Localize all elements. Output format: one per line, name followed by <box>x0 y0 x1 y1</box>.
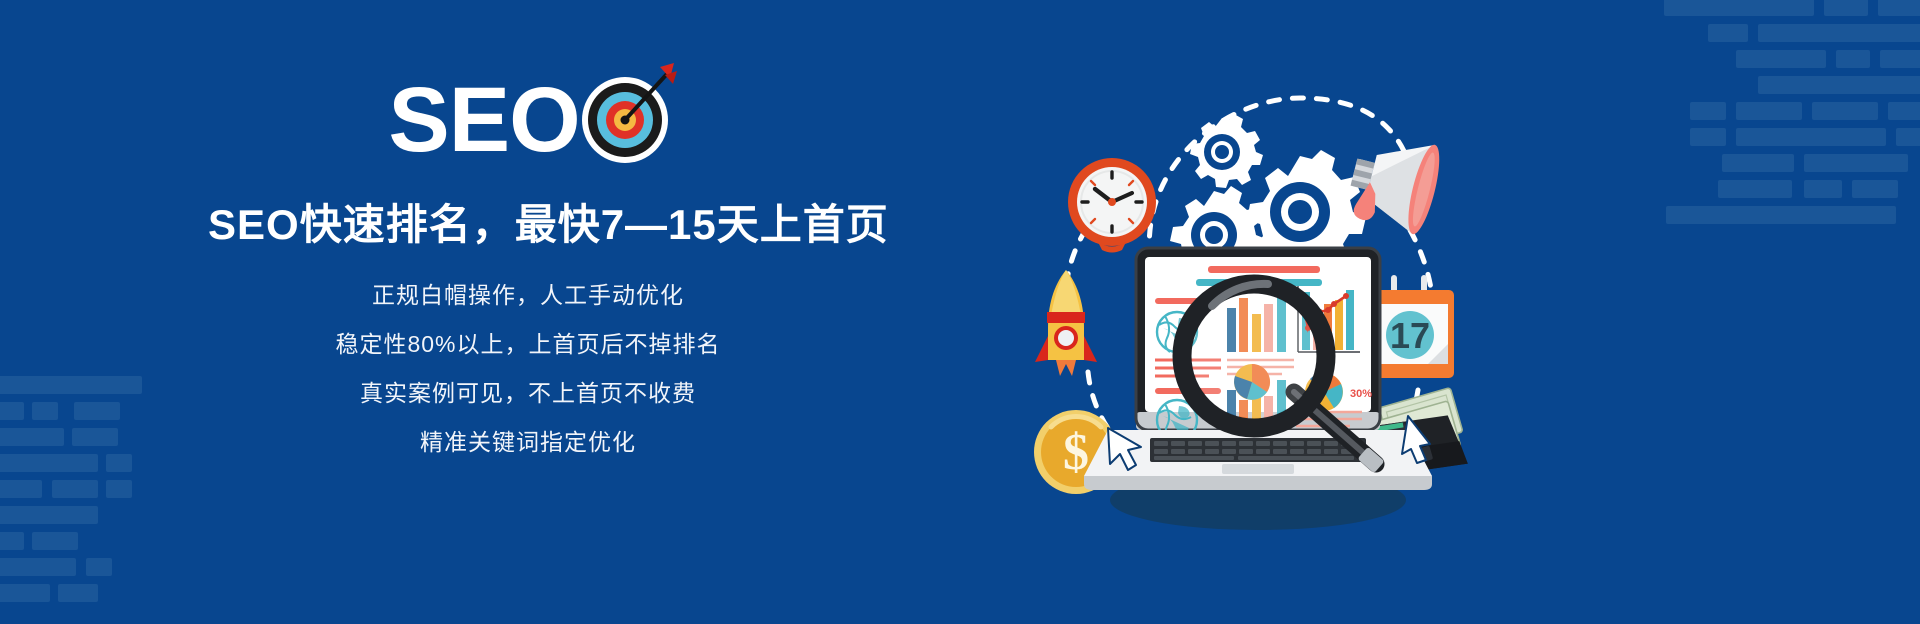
feature-line-1: 正规白帽操作，人工手动优化 <box>208 284 848 307</box>
screen-percentage-label: 30% <box>1350 388 1372 400</box>
seo-logo: SEO <box>208 74 848 166</box>
calendar-day-number: 17 <box>1390 315 1430 356</box>
seo-illustration: $ 17 <box>1000 60 1520 580</box>
laptop-trackpad <box>1222 464 1294 474</box>
code-lines-decoration-left <box>0 374 240 624</box>
banner-text-block: SEO SEO快速排名，最快7—15天上首页 正规白帽操作，人工手动优化 稳定性… <box>208 74 848 454</box>
feature-line-4: 精准关键词指定优化 <box>208 431 848 454</box>
seo-wordmark: SEO <box>388 74 579 166</box>
archery-target-icon <box>582 77 668 163</box>
page-title: SEO快速排名，最快7—15天上首页 <box>208 200 848 250</box>
feature-line-3: 真实案例可见，不上首页不收费 <box>208 382 848 405</box>
rocket-icon <box>1035 270 1097 376</box>
seo-promo-banner: SEO SEO快速排名，最快7—15天上首页 正规白帽操作，人工手动优化 稳定性… <box>0 0 1920 624</box>
feature-line-2: 稳定性80%以上，上首页后不掉排名 <box>208 333 848 356</box>
arrow-dart-icon <box>582 61 682 145</box>
coin-dollar-symbol: $ <box>1063 424 1089 481</box>
code-lines-decoration-right <box>1580 0 1920 296</box>
